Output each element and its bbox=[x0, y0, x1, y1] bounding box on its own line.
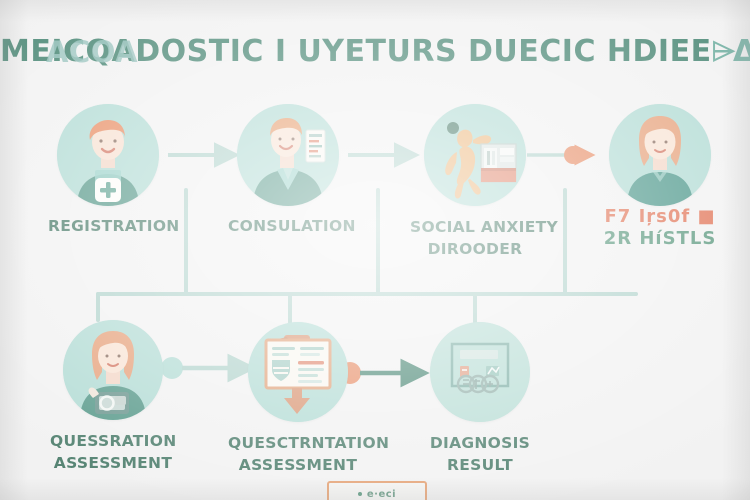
questration-assessment-label-line2: ASSESSMENT bbox=[50, 452, 176, 474]
infographic-canvas: MEICQADOSTIC I UYETURS DUECIC HDIEE⌲ΔV A… bbox=[0, 0, 750, 500]
questration-assessment-label: QUESSRATION ASSESSMENT bbox=[50, 430, 176, 474]
quesctrntation-assessment-circle bbox=[248, 322, 348, 422]
woman-person-icon bbox=[609, 104, 711, 206]
bottom-tag-text: e·eci bbox=[367, 489, 396, 500]
node-quesctrntation-assessment[interactable]: QUESCTRNTATION ASSESSMENT bbox=[228, 322, 368, 476]
bullet-dot-icon bbox=[358, 492, 362, 496]
quesctrntation-assessment-label-line1: QUESCTRNTATION bbox=[228, 432, 368, 454]
garbled-result-label-line1: F7 Iŗs0f ■ bbox=[600, 206, 720, 228]
diagnosis-result-label-line2: RESULT bbox=[415, 454, 545, 476]
doctor-person-icon bbox=[237, 104, 339, 206]
questration-assessment-label-line1: QUESSRATION bbox=[50, 430, 176, 452]
node-diagnosis-result[interactable]: DIAGNOSIS RESULT bbox=[415, 322, 545, 476]
quesctrntation-assessment-label-line2: ASSESSMENT bbox=[228, 454, 368, 476]
garbled-result-label: F7 Iŗs0f ■ 2R HíSTLS bbox=[600, 206, 720, 250]
node-social-anxiety-disorder[interactable]: SOCIAL ANXIETY DIROODER bbox=[410, 104, 540, 260]
title-ghost-overlap: ACOA bbox=[46, 35, 138, 69]
person-with-device-icon bbox=[63, 320, 163, 420]
bottom-legend-tag: e·eci bbox=[327, 481, 427, 500]
connector-bus-line bbox=[98, 190, 636, 322]
social-anxiety-label: SOCIAL ANXIETY DIROODER bbox=[410, 216, 540, 260]
node-questration-assessment[interactable]: QUESSRATION ASSESSMENT bbox=[50, 320, 176, 474]
consultation-label: CONSULATION bbox=[228, 216, 348, 237]
node-garbled-result[interactable]: F7 Iŗs0f ■ 2R HíSTLS bbox=[600, 104, 720, 250]
diagnosis-result-label-line1: DIAGNOSIS bbox=[415, 432, 545, 454]
node-registration[interactable]: REGISTRATION bbox=[48, 104, 168, 237]
title-tail-glyphs: ⌲ΔV bbox=[712, 34, 750, 69]
diagnosis-result-label: DIAGNOSIS RESULT bbox=[415, 432, 545, 476]
anxiety-figure-icon bbox=[424, 104, 526, 206]
diagnosis-result-circle bbox=[430, 322, 530, 422]
garbled-result-circle bbox=[609, 104, 711, 206]
title-main-text: MEICQADOSTIC I UYETURS DUECIC HDIEE⌲ΔV A… bbox=[0, 34, 750, 69]
social-anxiety-label-line1: SOCIAL ANXIETY bbox=[410, 216, 540, 238]
patient-person-icon bbox=[57, 104, 159, 206]
social-anxiety-label-line2: DIROODER bbox=[410, 238, 540, 260]
garbled-result-label-line2: 2R HíSTLS bbox=[600, 228, 720, 250]
registration-label: REGISTRATION bbox=[48, 216, 168, 237]
clipboard-presentation-icon bbox=[248, 322, 348, 422]
poster-title: MEICQADOSTIC I UYETURS DUECIC HDIEE⌲ΔV A… bbox=[0, 34, 750, 69]
consultation-circle bbox=[237, 104, 339, 206]
social-anxiety-circle bbox=[424, 104, 526, 206]
node-consultation[interactable]: CONSULATION bbox=[228, 104, 348, 237]
questration-assessment-circle bbox=[63, 320, 163, 420]
quesctrntation-assessment-label: QUESCTRNTATION ASSESSMENT bbox=[228, 432, 368, 476]
report-screen-icon bbox=[430, 322, 530, 422]
registration-circle bbox=[57, 104, 159, 206]
